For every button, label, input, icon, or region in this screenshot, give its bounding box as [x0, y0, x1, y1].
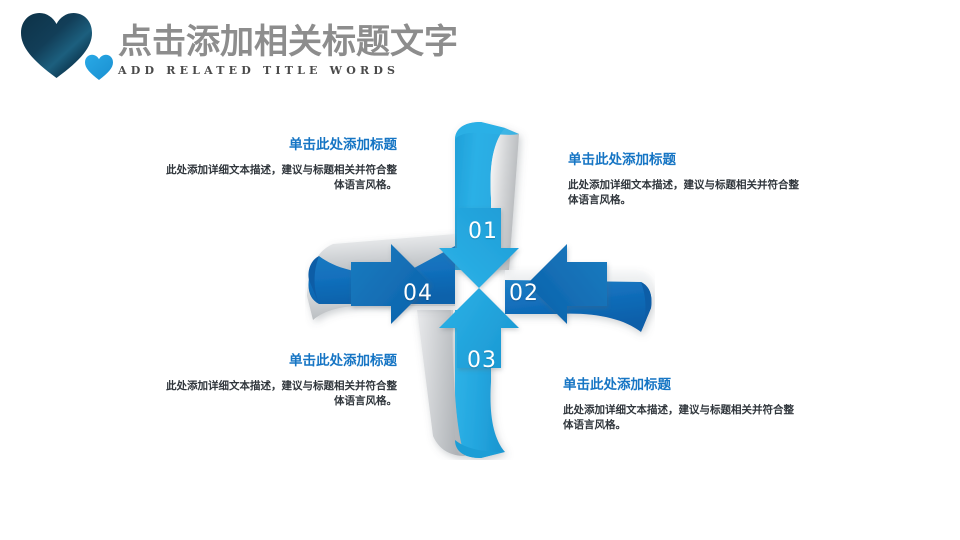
segment-text-block-04[interactable]: 单击此处添加标题 此处添加详细文本描述，建议与标题相关并符合整体语言风格。 [563, 377, 803, 433]
arrow-number-02: 02 [509, 281, 539, 306]
segment-body-01: 此处添加详细文本描述，建议与标题相关并符合整体语言风格。 [157, 163, 397, 193]
segment-body-02: 此处添加详细文本描述，建议与标题相关并符合整体语言风格。 [568, 178, 808, 208]
arrow-number-04: 04 [403, 281, 433, 306]
arrow-number-01: 01 [468, 219, 498, 244]
segment-title-04: 单击此处添加标题 [563, 377, 803, 394]
segment-title-01: 单击此处添加标题 [157, 137, 397, 154]
segment-text-block-02[interactable]: 单击此处添加标题 此处添加详细文本描述，建议与标题相关并符合整体语言风格。 [568, 152, 808, 208]
segment-body-03: 此处添加详细文本描述，建议与标题相关并符合整体语言风格。 [157, 379, 397, 409]
four-step-pinwheel-diagram: 01 02 03 04 单击此处添加标题 此处添加详细文本描述，建议与标题相关并… [0, 0, 960, 540]
segment-title-03: 单击此处添加标题 [157, 353, 397, 370]
segment-title-02: 单击此处添加标题 [568, 152, 808, 169]
segment-body-04: 此处添加详细文本描述，建议与标题相关并符合整体语言风格。 [563, 403, 803, 433]
segment-text-block-03[interactable]: 单击此处添加标题 此处添加详细文本描述，建议与标题相关并符合整体语言风格。 [157, 353, 397, 409]
arrow-number-03: 03 [467, 348, 497, 373]
segment-text-block-01[interactable]: 单击此处添加标题 此处添加详细文本描述，建议与标题相关并符合整体语言风格。 [157, 137, 397, 193]
